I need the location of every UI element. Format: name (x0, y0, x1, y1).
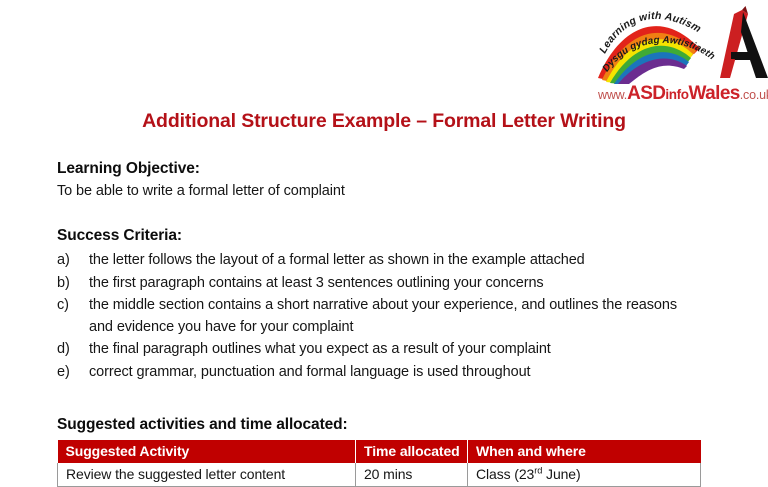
table-row: Review the suggested letter content 20 m… (58, 463, 701, 487)
logo-mark: Learning with Autism Dysgu gydag Awtisti… (592, 4, 768, 84)
list-item: b) the first paragraph contains at least… (57, 273, 697, 295)
list-item-marker: a) (57, 250, 70, 272)
activities-heading: Suggested activities and time allocated: (57, 416, 348, 434)
cell-where: Class (23rd June) (468, 463, 701, 487)
learning-objective-text: To be able to write a formal letter of c… (57, 183, 345, 199)
cell-activity: Review the suggested letter content (58, 463, 356, 487)
list-item-marker: e) (57, 362, 70, 384)
logo-url-www: www. (598, 88, 627, 102)
table-header-row: Suggested Activity Time allocated When a… (58, 440, 701, 463)
list-item-label: the first paragraph contains at least 3 … (89, 273, 697, 295)
asdinfowales-logo: Learning with Autism Dysgu gydag Awtisti… (592, 4, 768, 108)
list-item: c) the middle section contains a short n… (57, 295, 697, 338)
cell-where-prefix: Class (23 (476, 466, 534, 482)
activities-table: Suggested Activity Time allocated When a… (57, 440, 701, 487)
list-item: e) correct grammar, punctuation and form… (57, 362, 697, 384)
success-criteria-heading: Success Criteria: (57, 227, 182, 245)
column-header-time: Time allocated (356, 440, 468, 463)
list-item-marker: d) (57, 339, 70, 361)
list-item-label: the letter follows the layout of a forma… (89, 250, 697, 272)
logo-url: www.ASDinfoWales.co.uk (598, 84, 768, 103)
logo-url-info: info (665, 87, 688, 102)
logo-url-asd: ASD (627, 83, 665, 104)
column-header-activity: Suggested Activity (58, 440, 356, 463)
learning-objective-heading: Learning Objective: (57, 160, 200, 178)
list-item: a) the letter follows the layout of a fo… (57, 250, 697, 272)
page-title: Additional Structure Example – Formal Le… (0, 110, 768, 133)
list-item-marker: c) (57, 295, 69, 317)
logo-url-tld: .co.uk (740, 88, 768, 102)
logo-url-wales: Wales (689, 83, 740, 104)
list-item-label: correct grammar, punctuation and formal … (89, 362, 697, 384)
cell-time: 20 mins (356, 463, 468, 487)
column-header-where: When and where (468, 440, 701, 463)
success-criteria-list: a) the letter follows the layout of a fo… (57, 250, 697, 384)
list-item-label: the middle section contains a short narr… (89, 295, 697, 338)
list-item-marker: b) (57, 273, 70, 295)
cell-where-suffix: June) (542, 466, 580, 482)
list-item-label: the final paragraph outlines what you ex… (89, 339, 697, 361)
list-item: d) the final paragraph outlines what you… (57, 339, 697, 361)
